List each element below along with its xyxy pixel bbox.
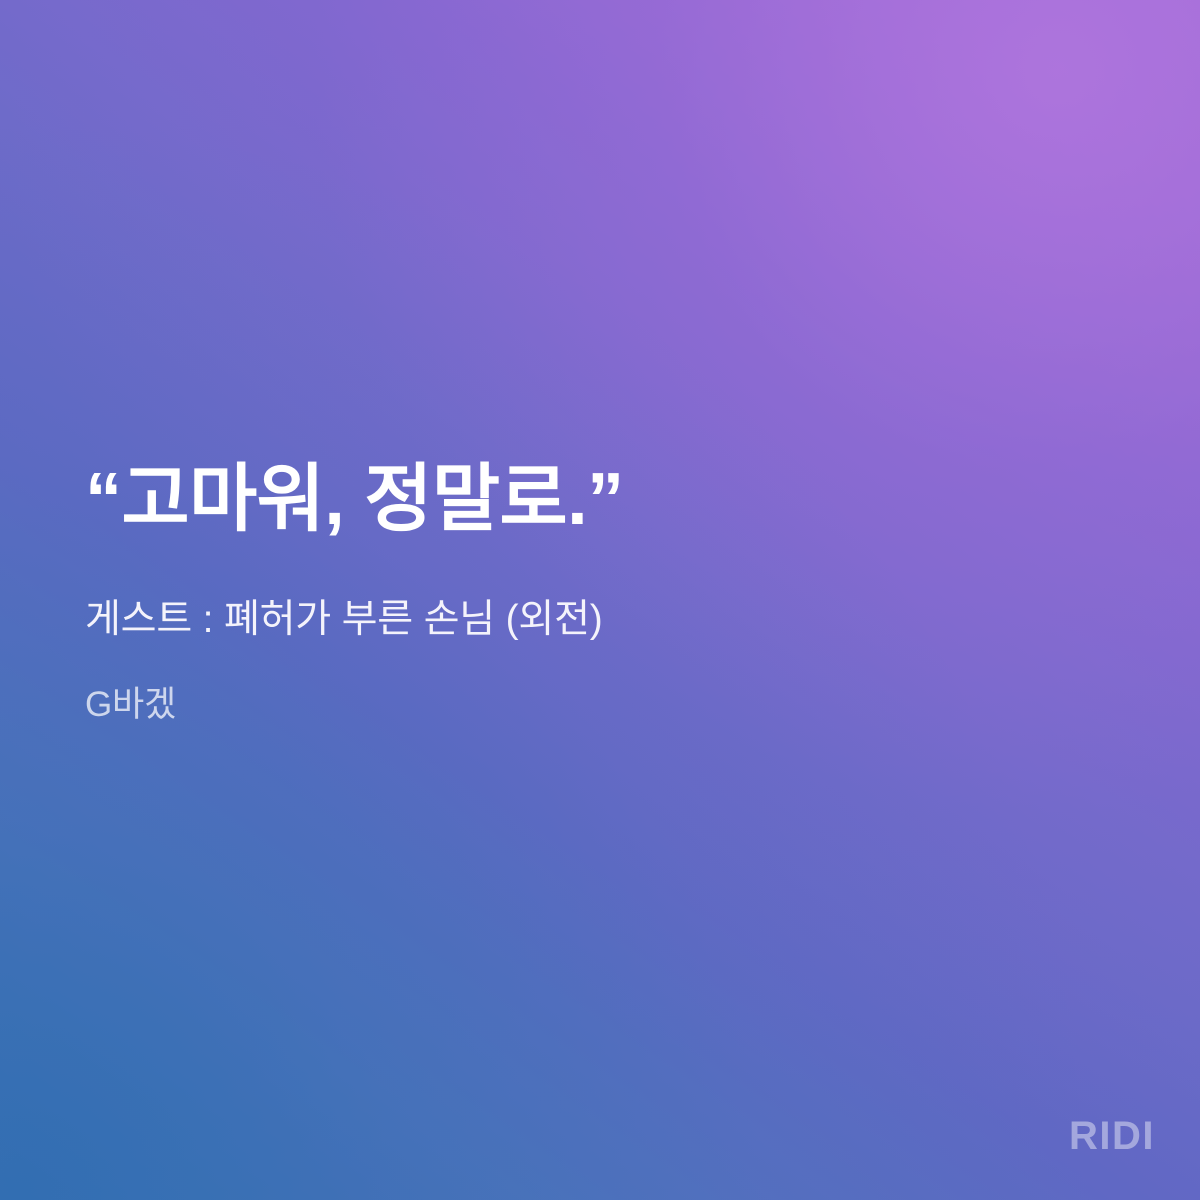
promo-card: “고마워, 정말로.” 게스트 : 폐허가 부른 손님 (외전) G바겠 RID… (0, 0, 1200, 1200)
ridi-logo: RIDI (1069, 1116, 1155, 1156)
promo-author: G바겠 (85, 646, 1085, 728)
promo-subtitle: 게스트 : 폐허가 부른 손님 (외전) (85, 542, 1085, 646)
card-content: “고마워, 정말로.” 게스트 : 폐허가 부른 손님 (외전) G바겠 RID… (0, 0, 1200, 1200)
promo-headline: “고마워, 정말로.” (85, 455, 1085, 542)
promo-text-block: “고마워, 정말로.” 게스트 : 폐허가 부른 손님 (외전) G바겠 (85, 455, 1085, 728)
